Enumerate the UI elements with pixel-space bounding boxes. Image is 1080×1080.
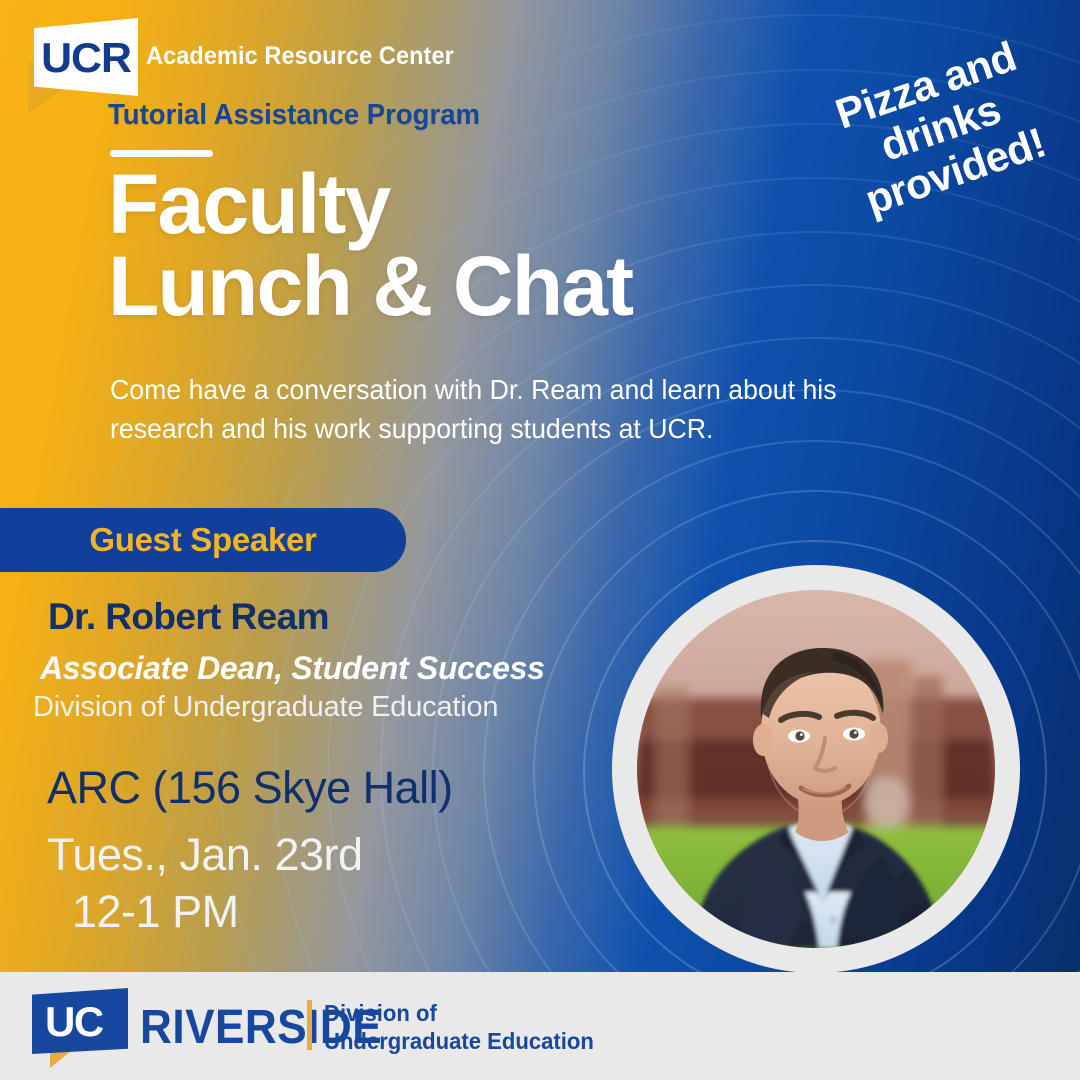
speaker-name: Dr. Robert Ream bbox=[48, 596, 329, 638]
event-time: 12-1 PM bbox=[72, 886, 239, 938]
speaker-role: Associate Dean, Student Success bbox=[40, 650, 545, 687]
guest-speaker-badge: Guest Speaker bbox=[0, 508, 406, 572]
speaker-division: Division of Undergraduate Education bbox=[33, 691, 498, 724]
event-flyer: UCR Academic Resource Center Tutorial As… bbox=[0, 0, 1080, 1080]
uc-riverside-logo: UC bbox=[32, 988, 142, 1066]
speaker-portrait-illustration bbox=[637, 590, 995, 948]
ucr-logo-wordmark: UCR bbox=[41, 34, 131, 82]
title-divider-rule bbox=[110, 150, 213, 157]
avatar bbox=[637, 590, 995, 948]
program-name: Tutorial Assistance Program bbox=[108, 99, 480, 132]
event-location: ARC (156 Skye Hall) bbox=[47, 762, 453, 814]
uc-logo-wordmark: UC bbox=[45, 998, 103, 1046]
page-title: Faculty Lunch & Chat bbox=[108, 163, 632, 328]
footer-bar: UC RIVERSIDE Division of Undergraduate E… bbox=[0, 972, 1080, 1080]
unit-name: Academic Resource Center bbox=[146, 42, 454, 71]
footer-department: Division of Undergraduate Education bbox=[324, 999, 594, 1055]
event-description: Come have a conversation with Dr. Ream a… bbox=[110, 370, 876, 448]
event-date: Tues., Jan. 23rd bbox=[47, 829, 363, 881]
footer-divider bbox=[307, 1000, 312, 1050]
guest-speaker-badge-label: Guest Speaker bbox=[0, 508, 406, 572]
